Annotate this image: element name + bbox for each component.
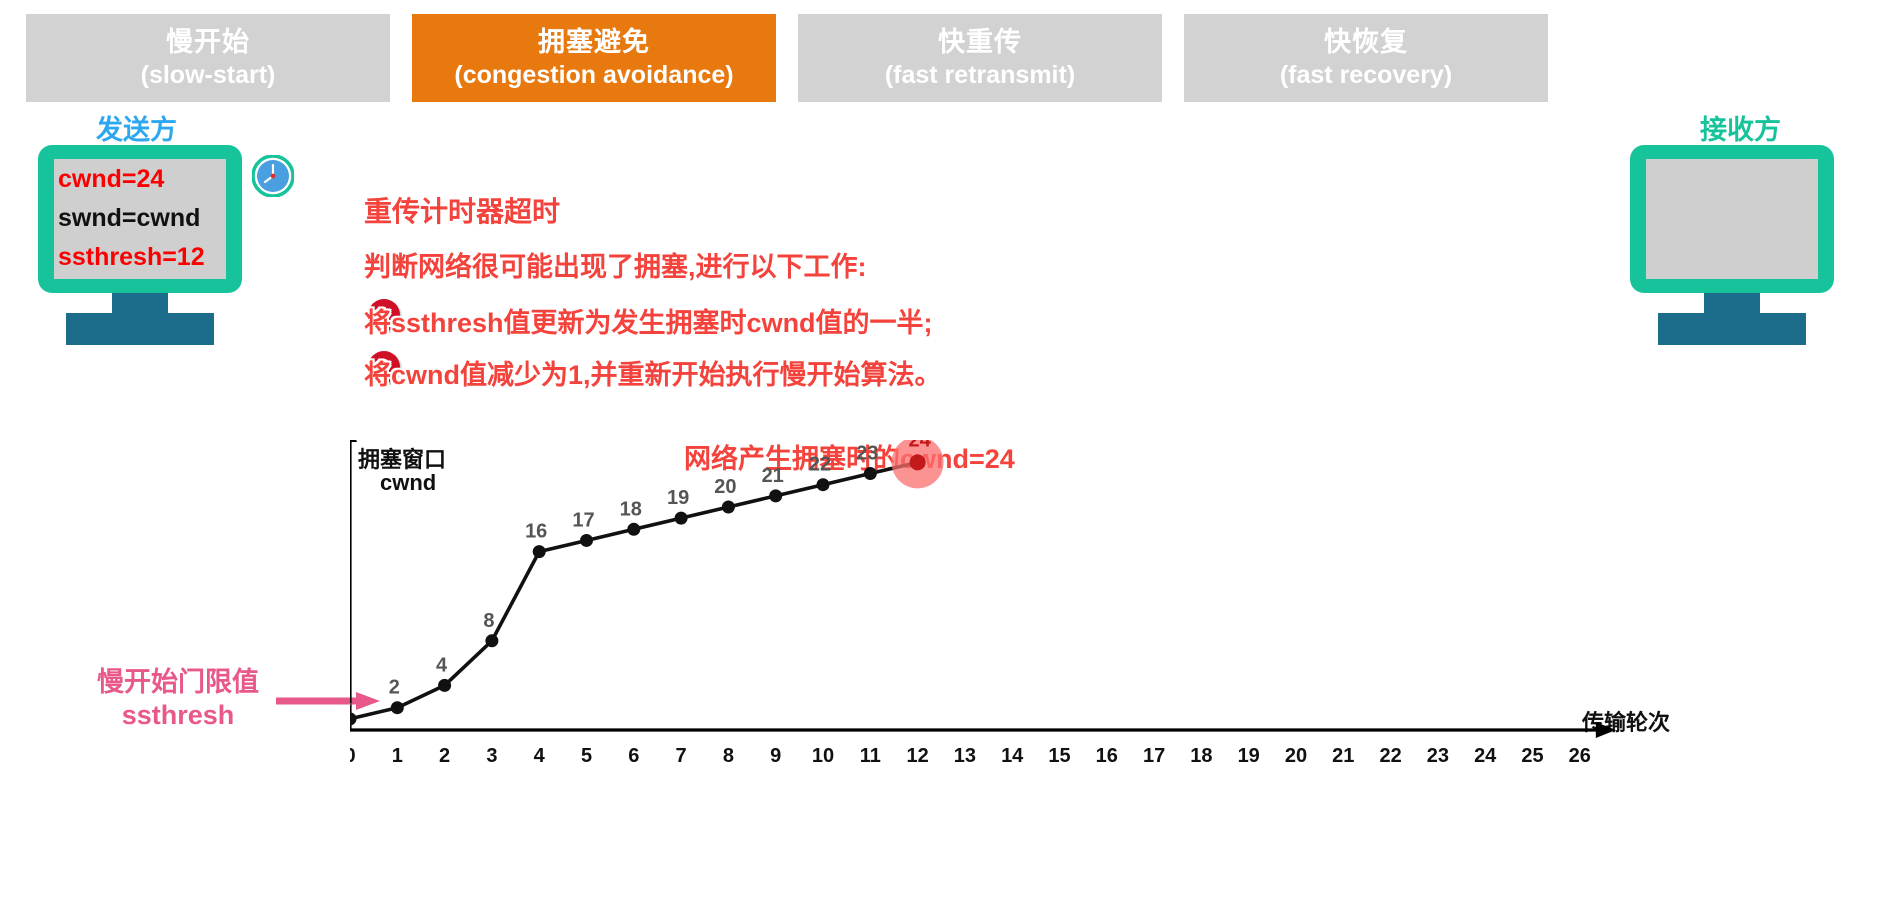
data-point [350, 712, 357, 725]
x-tick-label: 4 [534, 745, 546, 767]
data-point-label: 17 [572, 509, 594, 531]
x-tick-label: 24 [1474, 745, 1497, 767]
cwnd-chart: 0481216202401234567891011121314151617181… [350, 440, 1620, 910]
x-tick-label: 7 [676, 745, 687, 767]
data-point [438, 679, 451, 692]
x-tick-label: 2 [439, 745, 450, 767]
data-point [391, 701, 404, 714]
data-point-label: 2 [389, 677, 400, 699]
receiver-stand-neck [1704, 293, 1760, 313]
x-tick-label: 8 [723, 745, 734, 767]
tab-label-en: (fast recovery) [1280, 63, 1452, 88]
tab-slow-start[interactable]: 慢开始 (slow-start) [26, 14, 390, 102]
data-point-label: 4 [436, 654, 448, 676]
tab-label-en: (slow-start) [141, 63, 276, 88]
receiver-screen [1646, 159, 1818, 279]
x-tick-label: 12 [906, 745, 928, 767]
tab-label-cn: 拥塞避免 [538, 29, 650, 56]
ssthresh-note-cn: 慢开始门限值 [68, 660, 288, 699]
x-tick-label: 5 [581, 745, 592, 767]
x-tick-label: 16 [1096, 745, 1118, 767]
sender-stand-base [66, 313, 214, 345]
ssthresh-value: ssthresh=12 [58, 238, 238, 277]
annotation-item-1: 将ssthresh值更新为发生拥塞时cwnd值的一半; [364, 301, 933, 340]
data-point [580, 534, 593, 547]
data-point [864, 467, 877, 480]
x-tick-label: 13 [954, 745, 976, 767]
data-point-label: 8 [483, 610, 494, 632]
x-tick-label: 25 [1521, 745, 1543, 767]
swnd-value: swnd=cwnd [58, 199, 238, 238]
tab-congestion-avoidance[interactable]: 拥塞避免 (congestion avoidance) [412, 14, 776, 102]
x-tick-label: 26 [1569, 745, 1591, 767]
data-point-label: 18 [620, 498, 642, 520]
sender-label: 发送方 [96, 108, 177, 147]
x-tick-label: 9 [770, 745, 781, 767]
tab-fast-recovery[interactable]: 快恢复 (fast recovery) [1184, 14, 1548, 102]
sender-state-values: cwnd=24 swnd=cwnd ssthresh=12 [58, 160, 238, 276]
chart-canvas: 0481216202401234567891011121314151617181… [350, 440, 1620, 910]
annotation-item-2: 将cwnd值减少为1,并重新开始执行慢开始算法。 [364, 353, 942, 392]
data-point-label: 20 [714, 476, 736, 498]
data-point-label: 1 [350, 688, 353, 710]
receiver-label: 接收方 [1700, 108, 1781, 147]
receiver-monitor [1630, 145, 1834, 293]
data-point-label: 16 [525, 521, 547, 543]
tab-label-cn: 快恢复 [1324, 29, 1408, 56]
data-point-label: 24 [908, 440, 931, 451]
x-tick-label: 21 [1332, 745, 1354, 767]
data-point [722, 501, 735, 514]
cwnd-value: cwnd=24 [58, 160, 238, 199]
data-point [769, 489, 782, 502]
x-tick-label: 17 [1143, 745, 1165, 767]
x-tick-label: 22 [1379, 745, 1401, 767]
phase-tabs: 慢开始 (slow-start) 拥塞避免 (congestion avoida… [0, 14, 1896, 102]
annotation-subtitle: 判断网络很可能出现了拥塞,进行以下工作: [364, 245, 867, 284]
data-point [910, 454, 926, 470]
x-tick-label: 3 [486, 745, 497, 767]
x-tick-label: 14 [1001, 745, 1024, 767]
sender-stand-neck [112, 293, 168, 313]
ssthresh-note-en: ssthresh [68, 700, 288, 731]
x-tick-label: 1 [392, 745, 403, 767]
x-tick-label: 0 [350, 745, 356, 767]
data-point [533, 545, 546, 558]
x-tick-label: 23 [1427, 745, 1449, 767]
tab-label-cn: 快重传 [938, 29, 1022, 56]
x-tick-label: 15 [1048, 745, 1070, 767]
data-point [485, 634, 498, 647]
data-point-label: 23 [856, 443, 878, 465]
annotation-title: 重传计时器超时 [364, 190, 560, 230]
x-tick-label: 10 [812, 745, 834, 767]
receiver-stand-base [1658, 313, 1806, 345]
tab-label-en: (congestion avoidance) [454, 63, 733, 88]
data-point [817, 478, 830, 491]
x-tick-label: 20 [1285, 745, 1307, 767]
tab-label-cn: 慢开始 [166, 29, 250, 56]
x-tick-label: 11 [860, 745, 881, 767]
tab-fast-retransmit[interactable]: 快重传 (fast retransmit) [798, 14, 1162, 102]
data-point [675, 512, 688, 525]
x-axis-arrow-icon [1596, 722, 1616, 738]
data-point-label: 21 [762, 465, 784, 487]
x-tick-label: 6 [628, 745, 639, 767]
data-point-label: 22 [809, 454, 831, 476]
x-tick-label: 19 [1238, 745, 1260, 767]
data-point [627, 523, 640, 536]
clock-icon [252, 155, 294, 197]
x-tick-label: 18 [1190, 745, 1212, 767]
data-point-label: 19 [667, 487, 689, 509]
y-axis-arrow-icon [350, 440, 357, 442]
tab-label-en: (fast retransmit) [885, 63, 1075, 88]
